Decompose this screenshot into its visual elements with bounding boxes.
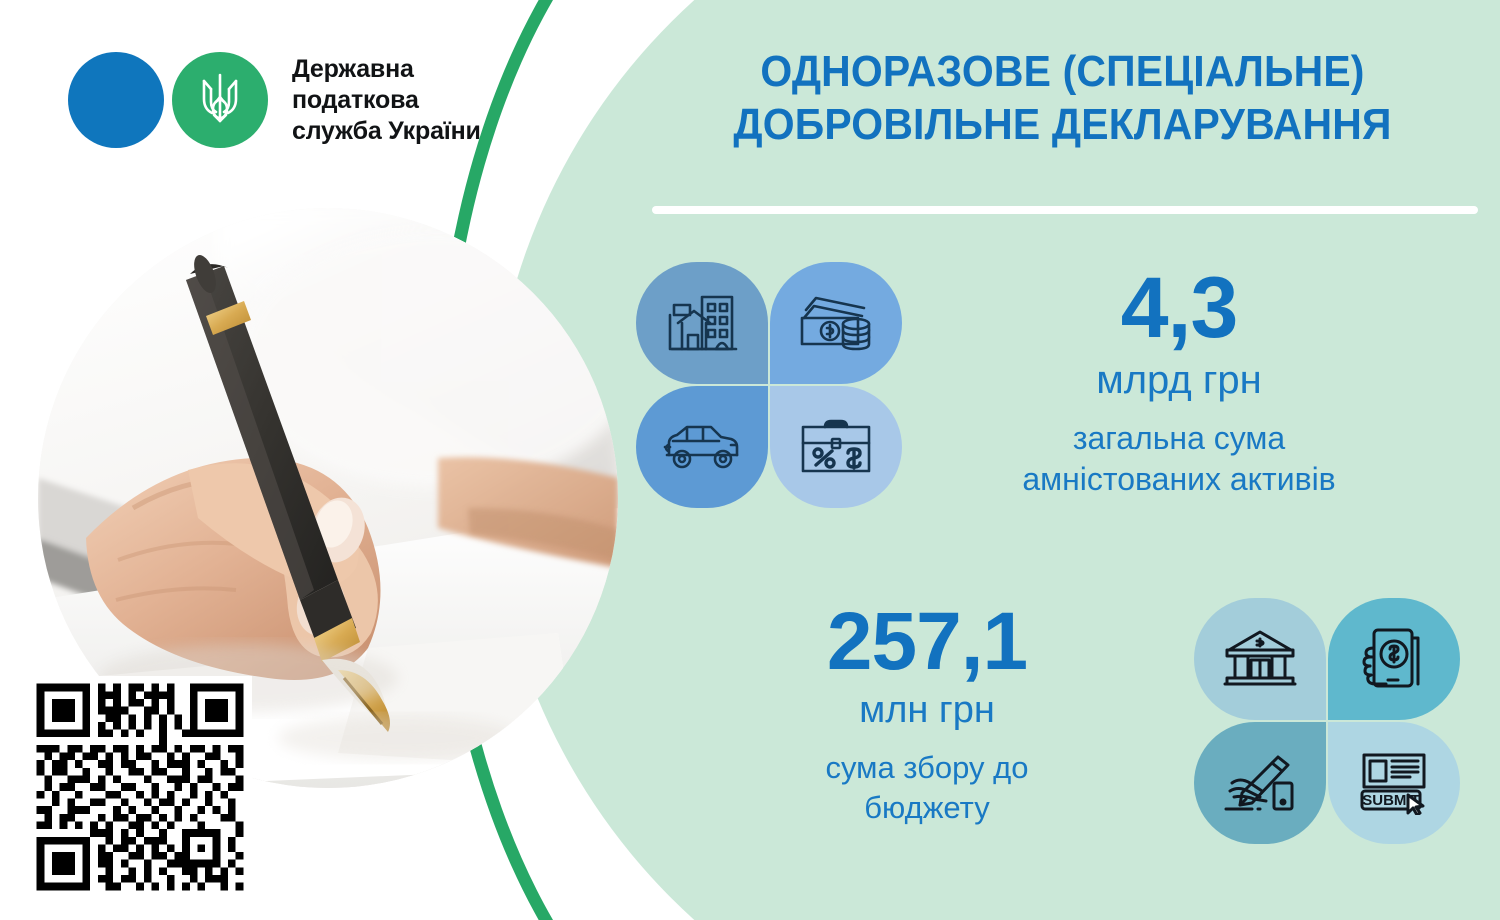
real-estate-icon — [636, 262, 768, 384]
icon-cluster-assets — [636, 262, 902, 506]
stat-unit: млн грн — [660, 688, 1194, 734]
hand-signing-icon — [1194, 722, 1326, 844]
qr-code-image — [28, 676, 252, 898]
cash-money-icon — [770, 262, 902, 384]
car-icon — [636, 386, 768, 508]
ukraine-trident-icon — [194, 69, 246, 131]
stat-block-budget: 257,1 млн грн сума збору до бюджету — [660, 598, 1460, 842]
page-title: ОДНОРАЗОВЕ (СПЕЦІАЛЬНЕ) ДОБРОВІЛЬНЕ ДЕКЛ… — [670, 46, 1456, 152]
stat-caption: сума збору до бюджету — [660, 748, 1194, 827]
stat-value: 4,3 — [902, 266, 1456, 350]
submit-document-icon: SUBMIT — [1328, 722, 1460, 844]
infographic-canvas: Державна податкова служба України — [0, 0, 1500, 920]
mobile-payment-icon — [1328, 598, 1460, 720]
icon-cluster-payment: SUBMIT — [1194, 598, 1460, 842]
stat-block-assets: 4,3 млрд грн загальна сума амністованих … — [636, 262, 1456, 506]
logo-green-circle-trident — [172, 52, 268, 148]
qr-code[interactable] — [28, 676, 252, 898]
agency-name: Державна податкова служба України — [292, 54, 481, 147]
briefcase-percent-dollar-icon — [770, 386, 902, 508]
stat-unit: млрд грн — [902, 356, 1456, 404]
agency-logo: Державна податкова служба України — [68, 52, 481, 148]
stat-caption: загальна сума амністованих активів — [902, 418, 1456, 500]
stat-value: 257,1 — [660, 602, 1194, 682]
logo-blue-circle — [68, 52, 164, 148]
stat-text-assets: 4,3 млрд грн загальна сума амністованих … — [902, 262, 1456, 500]
bank-building-icon — [1194, 598, 1326, 720]
title-divider — [652, 206, 1478, 214]
stat-text-budget: 257,1 млн грн сума збору до бюджету — [660, 598, 1194, 827]
